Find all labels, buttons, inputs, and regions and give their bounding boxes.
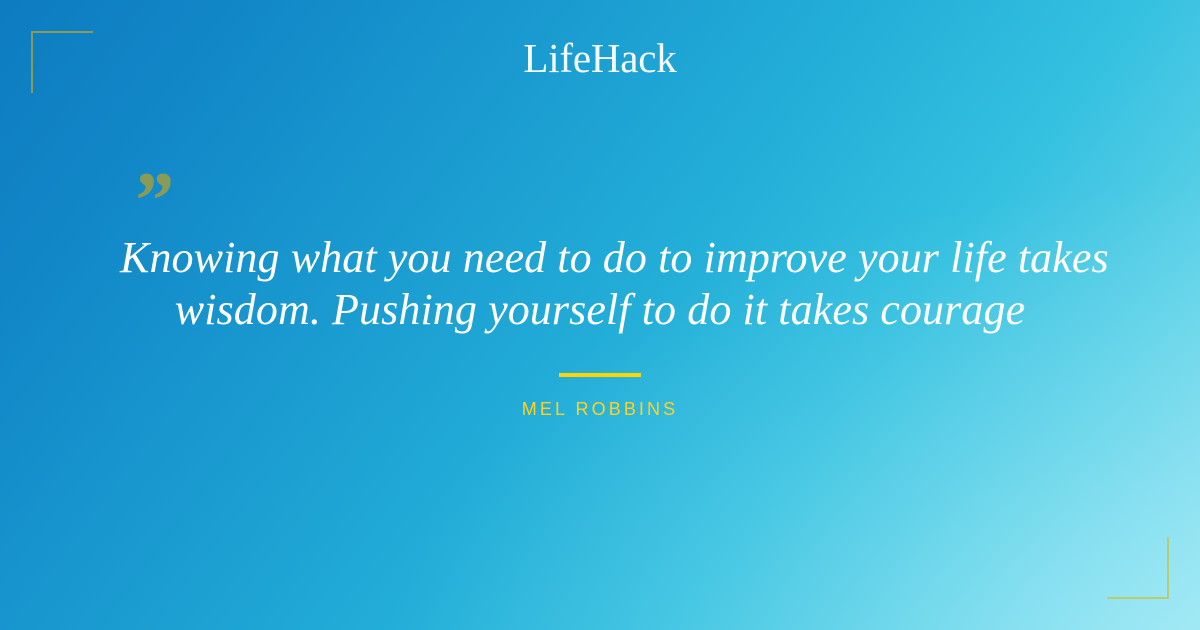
quote-text: Knowing what you need to do to improve y… — [120, 232, 1080, 336]
quote-line-1: Knowing what you need to do to improve y… — [120, 232, 1080, 284]
author-name: MEL ROBBINS — [0, 399, 1200, 420]
quote-card: LifeHack ” Knowing what you need to do t… — [0, 0, 1200, 630]
quote-line-2: wisdom. Pushing yourself to do it takes … — [120, 284, 1080, 336]
brand-logo-text: LifeHack — [523, 38, 676, 79]
corner-bracket-bottom-right-icon — [1107, 537, 1169, 599]
brand-logo: LifeHack — [0, 38, 1200, 79]
quote-block: ” Knowing what you need to do to improve… — [0, 160, 1200, 420]
quotation-mark-icon: ” — [131, 160, 172, 242]
author-divider — [559, 373, 641, 377]
